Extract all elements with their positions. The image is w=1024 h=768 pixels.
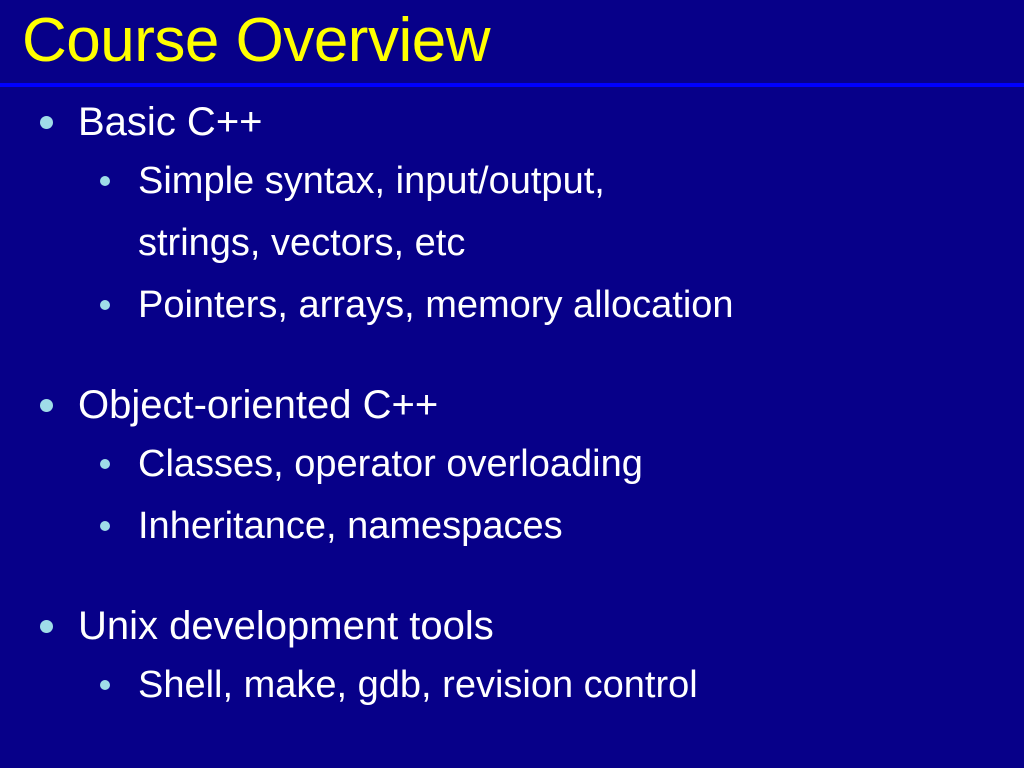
bullet-dot-icon [100, 150, 138, 212]
bullet-dot-icon [100, 495, 138, 557]
page-title: Course Overview [22, 4, 490, 78]
bullet-level2-label: Simple syntax, input/output, strings, ve… [138, 150, 958, 274]
sub-bullet-list: Simple syntax, input/output, strings, ve… [0, 150, 1024, 336]
bullet-dot-icon [100, 274, 138, 336]
bullet-level2: Simple syntax, input/output, strings, ve… [0, 150, 1024, 274]
bullet-level2: Inheritance, namespaces [0, 495, 1024, 557]
bullet-level1: Unix development tools [0, 599, 1024, 654]
bullet-group: Unix development tools Shell, make, gdb,… [0, 599, 1024, 716]
bullet-level1-label: Object-oriented C++ [78, 378, 1024, 433]
bullet-level2: Shell, make, gdb, revision control [0, 654, 1024, 716]
sub-bullet-list: Classes, operator overloading Inheritanc… [0, 433, 1024, 557]
bullet-dot-icon [100, 433, 138, 495]
bullet-dot-icon [40, 599, 78, 654]
bullet-level2: Pointers, arrays, memory allocation [0, 274, 1024, 336]
bullet-group: Basic C++ Simple syntax, input/output, s… [0, 95, 1024, 336]
bullet-level2: Classes, operator overloading [0, 433, 1024, 495]
bullet-level2-label: Classes, operator overloading [138, 433, 958, 495]
bullet-dot-icon [100, 654, 138, 716]
bullet-level1: Basic C++ [0, 95, 1024, 150]
sub-bullet-list: Shell, make, gdb, revision control [0, 654, 1024, 716]
bullet-dot-icon [40, 378, 78, 433]
bullet-level2-label: Pointers, arrays, memory allocation [138, 274, 958, 336]
bullet-group: Object-oriented C++ Classes, operator ov… [0, 378, 1024, 557]
bullet-level1-label: Basic C++ [78, 95, 1024, 150]
bullet-level2-label: Inheritance, namespaces [138, 495, 958, 557]
slide: Course Overview Basic C++ Simple syntax,… [0, 0, 1024, 768]
bullet-level1: Object-oriented C++ [0, 378, 1024, 433]
bullet-list: Basic C++ Simple syntax, input/output, s… [0, 95, 1024, 716]
bullet-level2-label: Shell, make, gdb, revision control [138, 654, 958, 716]
bullet-level1-label: Unix development tools [78, 599, 1024, 654]
title-divider [0, 83, 1024, 87]
bullet-dot-icon [40, 95, 78, 150]
